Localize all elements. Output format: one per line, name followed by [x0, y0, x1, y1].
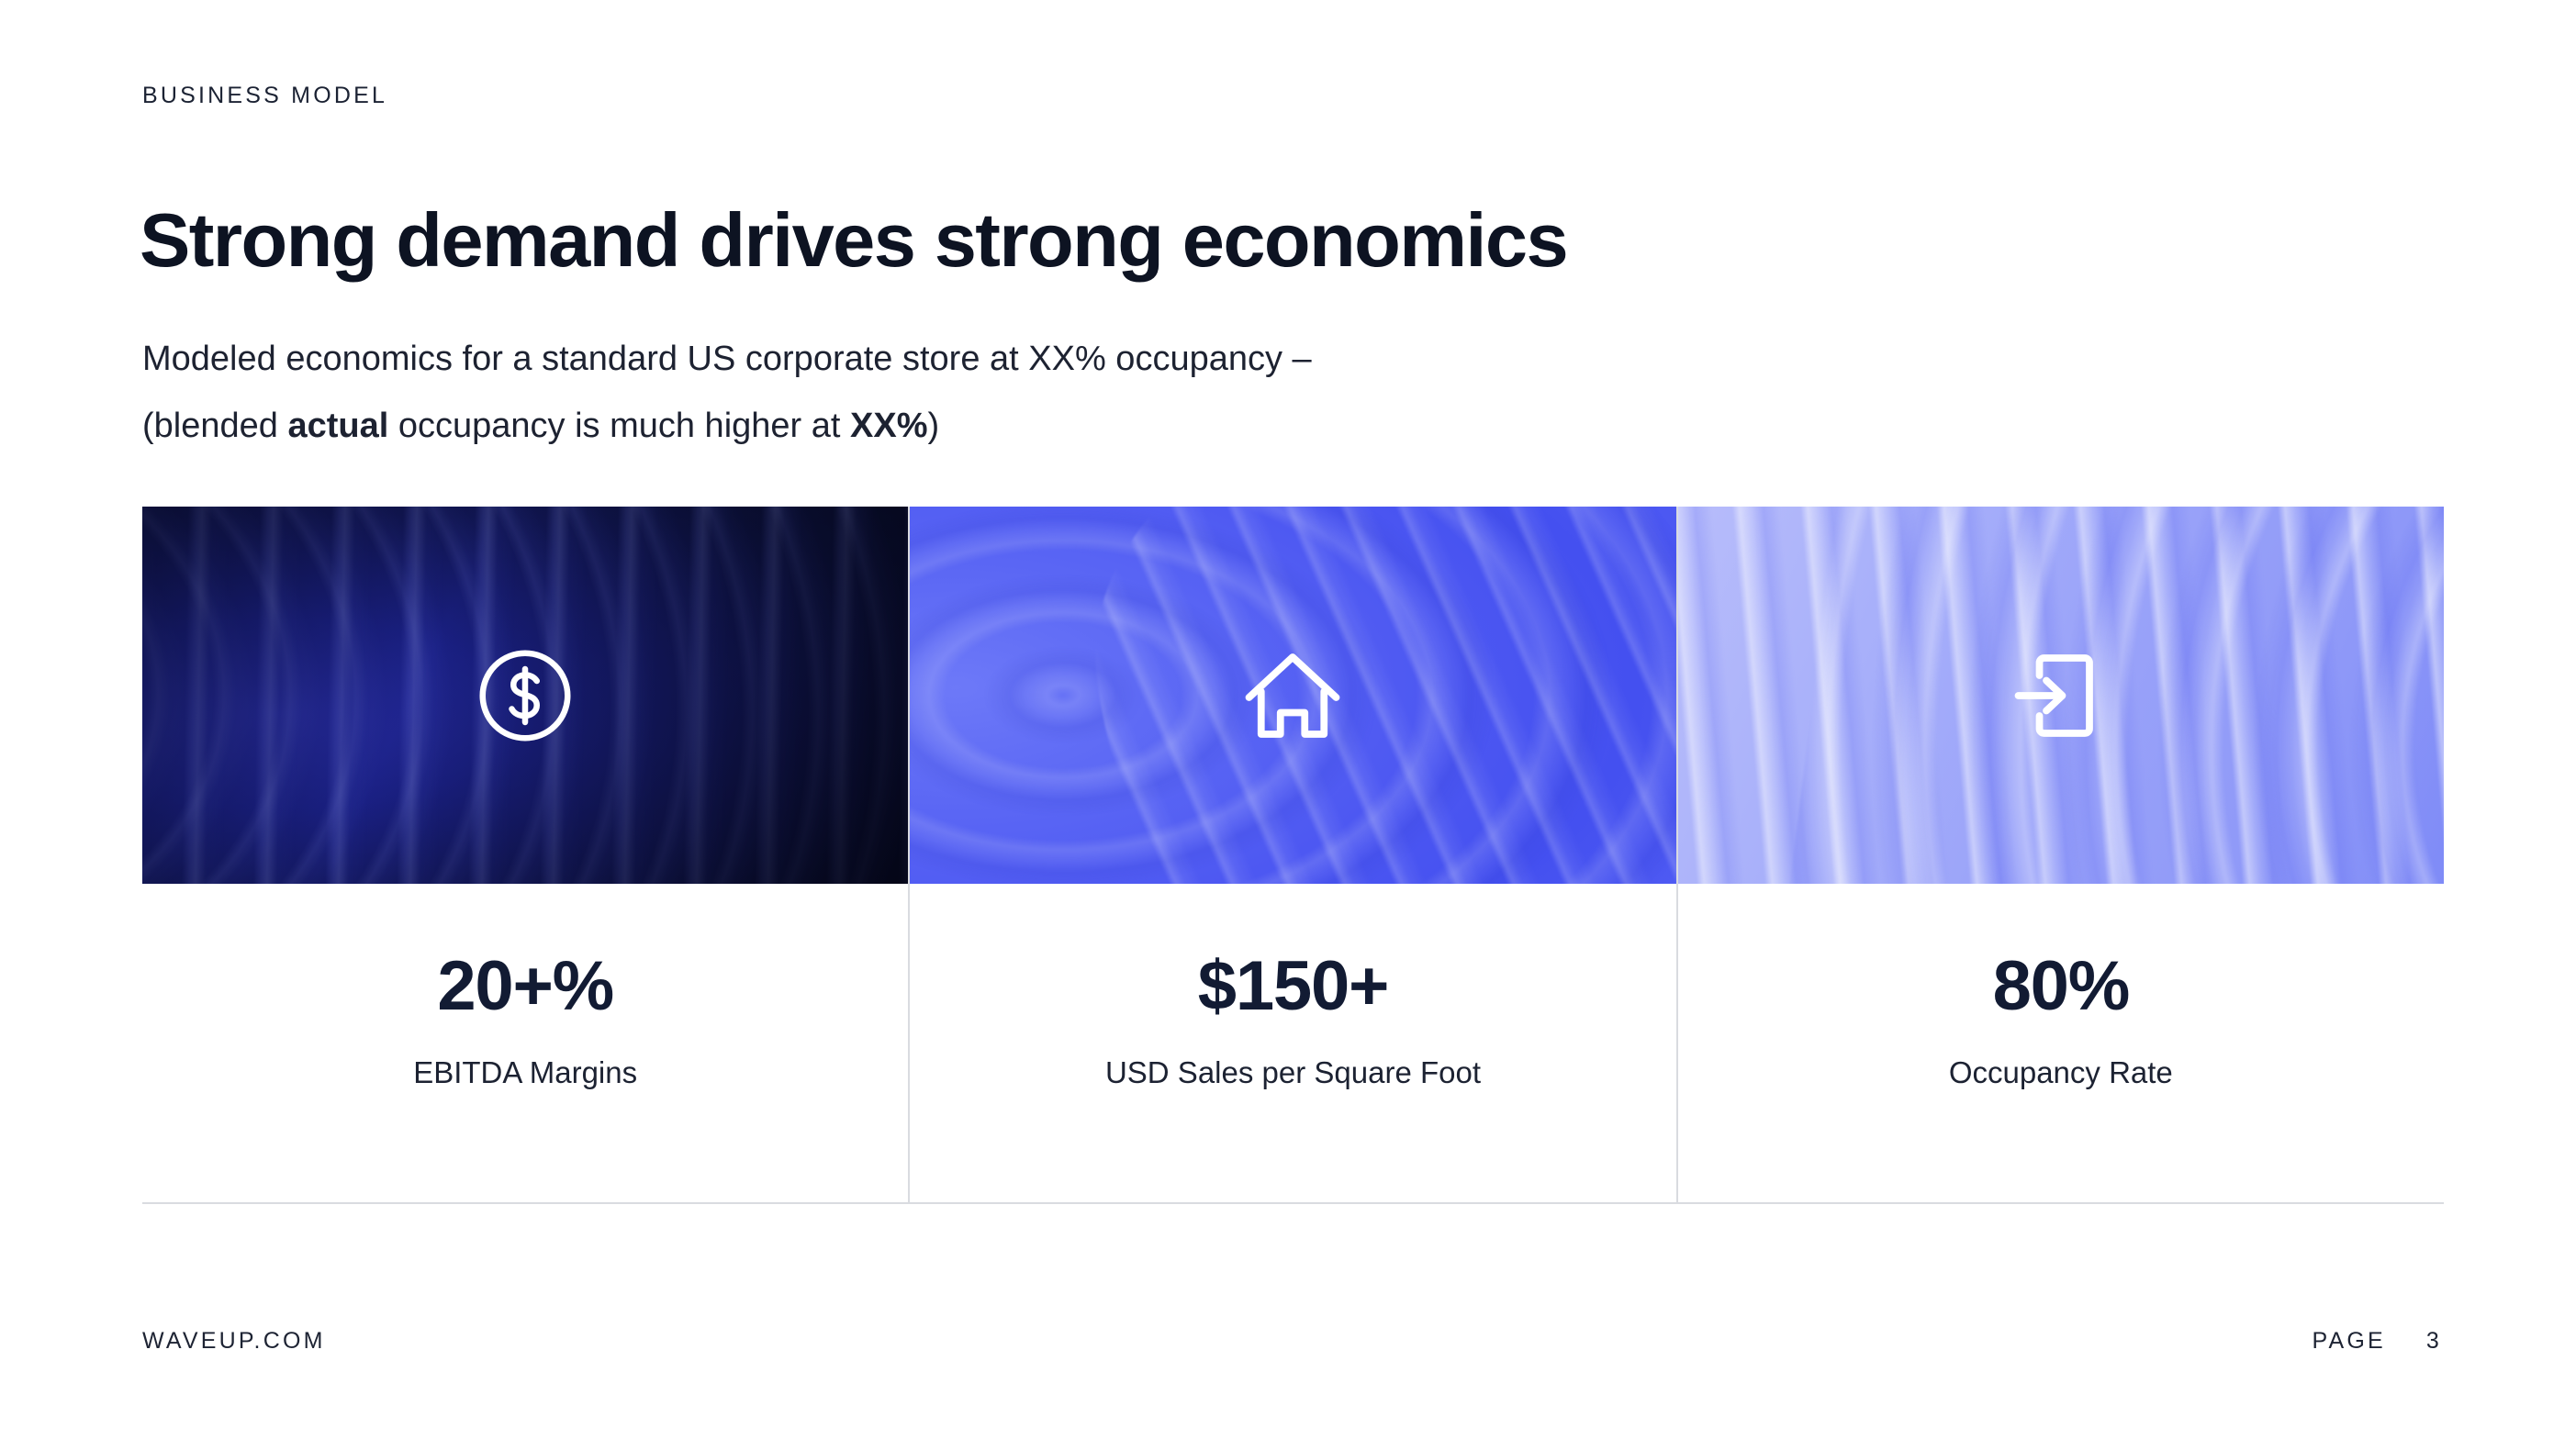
subtitle-bold-actual: actual — [287, 407, 388, 445]
stat-value: $150+ — [1198, 948, 1388, 1025]
login-arrow-icon — [2006, 641, 2116, 751]
card-body: $150+ USD Sales per Square Foot — [910, 884, 1675, 1202]
card-body: 20+% EBITDA Margins — [142, 884, 908, 1202]
subtitle-line-2: (blended actual occupancy is much higher… — [142, 393, 1312, 460]
stat-card-occupancy: 80% Occupancy Rate — [1676, 507, 2444, 1202]
subtitle-suffix: ) — [927, 407, 939, 445]
subtitle-middle: occupancy is much higher at — [388, 407, 850, 445]
dollar-circle-icon — [470, 641, 580, 751]
page-title: Strong demand drives strong economics — [140, 196, 1567, 284]
subtitle-bold-percent: XX% — [850, 407, 927, 445]
card-visual-light — [1678, 507, 2444, 884]
slide: BUSINESS MODEL Strong demand drives stro… — [0, 0, 2576, 1439]
stat-card-ebitda: 20+% EBITDA Margins — [142, 507, 908, 1202]
stat-card-sales-per-sqft: $150+ USD Sales per Square Foot — [908, 507, 1675, 1202]
footer-site-url[interactable]: WAVEUP.COM — [142, 1328, 326, 1355]
footer-pagination: PAGE 3 — [2312, 1328, 2442, 1355]
card-visual-mid — [910, 507, 1675, 884]
subtitle-line-1: Modeled economics for a standard US corp… — [142, 326, 1312, 393]
section-eyebrow: BUSINESS MODEL — [142, 83, 387, 109]
stat-label: EBITDA Margins — [413, 1054, 637, 1091]
stat-value: 20+% — [437, 948, 613, 1025]
subtitle-prefix: (blended — [142, 407, 287, 445]
stat-label: USD Sales per Square Foot — [1105, 1054, 1481, 1091]
page-number: 3 — [2426, 1328, 2442, 1355]
stat-card-group: 20+% EBITDA Margins $150+ USD Sales per … — [142, 507, 2444, 1204]
page-subtitle: Modeled economics for a standard US corp… — [142, 326, 1312, 460]
page-label: PAGE — [2312, 1328, 2385, 1355]
card-body: 80% Occupancy Rate — [1678, 884, 2444, 1202]
stat-value: 80% — [1993, 948, 2130, 1025]
card-visual-dark — [142, 507, 908, 884]
house-icon — [1238, 641, 1348, 751]
stat-label: Occupancy Rate — [1949, 1054, 2173, 1091]
